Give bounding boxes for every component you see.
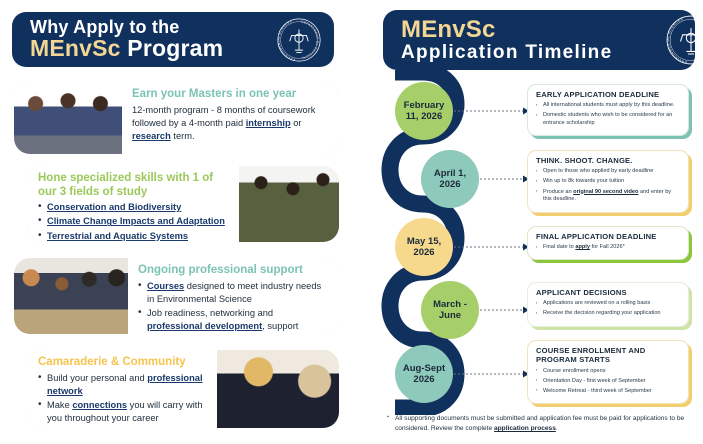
list-item: Climate Change Impacts and Adaptation	[38, 215, 229, 228]
left-banner-text: Why Apply to the MEnvSc Program	[12, 18, 223, 61]
left-banner-highlight: MEnvSc	[30, 35, 121, 61]
feature-card-fields: Hone specialized skills with 1 of our 3 …	[28, 166, 339, 242]
callout-title: APPLICANT DECISIONS	[536, 288, 681, 297]
photo-students-group	[14, 82, 122, 154]
timeline-callout-1: THINK. SHOOT. CHANGE. Open to those who …	[527, 150, 689, 213]
callout-title: THINK. SHOOT. CHANGE.	[536, 156, 681, 165]
infographic-page: Why Apply to the MEnvSc Program	[0, 0, 703, 444]
feature-card-body: Earn your Masters in one year 12-month p…	[122, 82, 339, 154]
inline-link[interactable]: application process	[494, 425, 556, 432]
list-item: Open to those who applied by early deadl…	[536, 168, 681, 176]
list-item: Win up to 8k towards your tuition	[536, 178, 681, 186]
timeline-callout-0: EARLY APPLICATION DEADLINE All internati…	[527, 84, 689, 136]
left-banner: Why Apply to the MEnvSc Program	[12, 12, 334, 67]
callout-bullets: All international students must apply by…	[536, 102, 681, 128]
list-item: Receive the decision regarding your appl…	[536, 310, 681, 318]
inline-link[interactable]: Courses	[147, 281, 184, 291]
timeline-callout-3: APPLICANT DECISIONS Applications are rev…	[527, 282, 689, 327]
timeline-callout-4: COURSE ENROLLMENT AND PROGRAM STARTS Cou…	[527, 340, 689, 404]
callout-bullets: Applications are reviewed on a rolling b…	[536, 300, 681, 318]
inline-link[interactable]: original 90 second video	[573, 189, 638, 195]
list-item: Build your personal and professional net…	[38, 372, 207, 398]
list-item: Job readiness, networking and profession…	[138, 307, 329, 333]
feature-card-support: Ongoing professional support Courses des…	[14, 258, 339, 334]
photo-graduate-selfie	[217, 350, 339, 428]
feature-card-title: Earn your Masters in one year	[132, 88, 329, 102]
list-item: Orientation Day - first week of Septembe…	[536, 378, 681, 386]
feature-card-bullets: Build your personal and professional net…	[38, 372, 207, 426]
inline-link[interactable]: professional network	[47, 373, 203, 396]
list-item: All international students must apply by…	[536, 102, 681, 110]
feature-card-title: Hone specialized skills with 1 of our 3 …	[38, 172, 229, 199]
feature-card-body: Hone specialized skills with 1 of our 3 …	[28, 166, 239, 242]
footnote-text: All supporting documents must be submitt…	[387, 414, 687, 434]
feature-card-title: Ongoing professional support	[138, 264, 329, 278]
callout-title: FINAL APPLICATION DEADLINE	[536, 232, 681, 241]
list-item: Courses designed to meet industry needs …	[138, 280, 329, 306]
feature-card-paragraph: 12-month program - 8 months of coursewor…	[132, 104, 329, 144]
feature-card-community: Camaraderie & Community Build your perso…	[28, 350, 339, 428]
list-item: Conservation and Biodiversity	[38, 201, 229, 214]
list-item: Final date to apply for Fall 2026*	[536, 244, 681, 252]
timeline-footnote: All supporting documents must be submitt…	[387, 414, 687, 434]
list-item: Make connections you will carry with you…	[38, 399, 207, 425]
callout-bullets: Course enrollment opensOrientation Day -…	[536, 368, 681, 396]
callout-title: COURSE ENROLLMENT AND PROGRAM STARTS	[536, 346, 681, 365]
left-banner-rest: Program	[121, 35, 224, 61]
callout-title: EARLY APPLICATION DEADLINE	[536, 90, 681, 99]
inline-link[interactable]: internship	[246, 118, 291, 128]
inline-link[interactable]: apply	[575, 244, 590, 250]
right-panel-timeline: MEnvSc Application Timeline	[375, 0, 703, 444]
inline-link[interactable]: Conservation and Biodiversity	[47, 202, 181, 212]
feature-card-body: Camaraderie & Community Build your perso…	[28, 350, 217, 428]
list-item: Domestic students who wish to be conside…	[536, 112, 681, 128]
feature-card-bullets: Courses designed to meet industry needs …	[138, 280, 329, 334]
list-item: Course enrollment opens	[536, 368, 681, 376]
left-banner-line2: MEnvSc Program	[30, 37, 223, 61]
photo-networking-event	[14, 258, 128, 334]
inline-link[interactable]: research	[132, 131, 171, 141]
inline-link[interactable]: Terrestrial and Aquatic Systems	[47, 231, 188, 241]
list-item: Produce an original 90 second video and …	[536, 189, 681, 205]
list-item: Terrestrial and Aquatic Systems	[38, 230, 229, 243]
inline-link[interactable]: Climate Change Impacts and Adaptation	[47, 216, 225, 226]
timeline-callout-2: FINAL APPLICATION DEADLINE Final date to…	[527, 226, 689, 260]
feature-card-body: Ongoing professional support Courses des…	[128, 258, 339, 334]
callout-bullets: Final date to apply for Fall 2026*	[536, 244, 681, 252]
callout-bullets: Open to those who applied by early deadl…	[536, 168, 681, 204]
inline-link[interactable]: professional development	[147, 321, 262, 331]
feature-card-bullets: Conservation and BiodiversityClimate Cha…	[38, 201, 229, 242]
svg-text:ENVIRONMENTAL SCIENCES: ENVIRONMENTAL SCIENCES	[277, 19, 296, 62]
photo-field-research	[239, 166, 339, 242]
feature-card-title: Camaraderie & Community	[38, 356, 207, 370]
list-item: Applications are reviewed on a rolling b…	[536, 300, 681, 308]
inline-link[interactable]: connections	[72, 400, 127, 410]
list-item: Welcome Retreat - third week of Septembe…	[536, 388, 681, 396]
left-panel-why-apply: Why Apply to the MEnvSc Program	[0, 0, 352, 444]
department-crest-icon: DEPARTMENT OF PHYSICAL & ENVIRONMENTAL S…	[276, 17, 322, 63]
feature-card-masters: Earn your Masters in one year 12-month p…	[14, 82, 339, 154]
